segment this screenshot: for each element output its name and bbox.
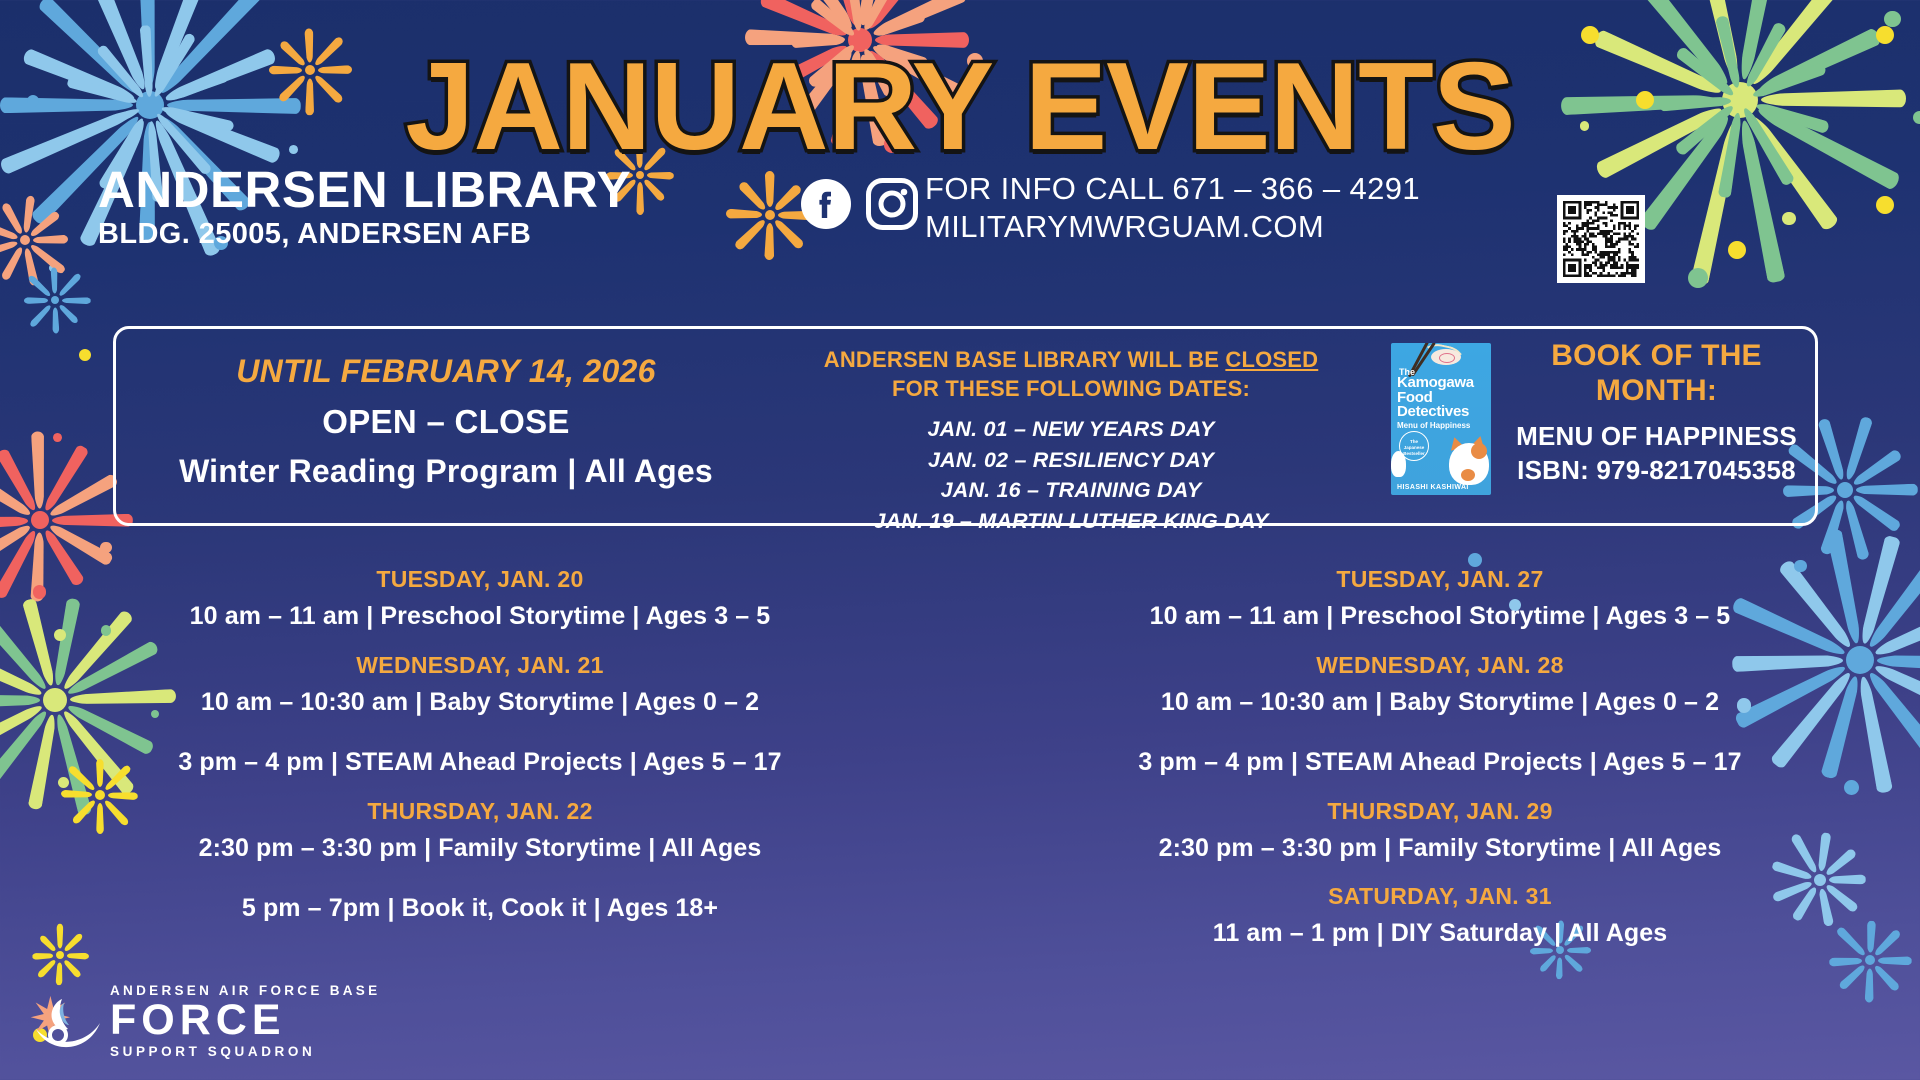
fss-logo: ANDERSEN AIR FORCE BASE FORCE SUPPORT SQ… [28,984,380,1058]
closure-dates-list: JAN. 01 – NEW YEARS DAY JAN. 02 – RESILI… [766,414,1376,536]
event-line: 3 pm – 4 pm | STEAM Ahead Projects | Age… [960,745,1920,781]
website-line: MILITARYMWRGUAM.COM [925,208,1420,246]
event-group: THURSDAY, JAN. 222:30 pm – 3:30 pm | Fam… [0,798,960,927]
winter-reading-program: Winter Reading Program | All Ages [136,453,756,490]
events-column-right: TUESDAY, JAN. 2710 am – 11 am | Preschoo… [960,566,1920,969]
event-group: THURSDAY, JAN. 292:30 pm – 3:30 pm | Fam… [960,798,1920,867]
book-of-the-month-block: The Kamogawa Food Detectives Menu of Hap… [1391,339,1806,495]
event-day-heading: THURSDAY, JAN. 29 [960,798,1920,825]
event-group: WEDNESDAY, JAN. 2810 am – 10:30 am | Bab… [960,652,1920,781]
fss-line2: FORCE [110,999,380,1043]
book-cover-author: HISASHI KASHIWAI [1397,484,1469,491]
event-day-heading: SATURDAY, JAN. 31 [960,883,1920,910]
closures-heading-closed: CLOSED [1225,347,1318,372]
firework-dot [79,349,91,361]
event-line: 10 am – 10:30 am | Baby Storytime | Ages… [960,685,1920,721]
closures-heading-prefix: ANDERSEN BASE LIBRARY WILL BE [824,347,1226,372]
header: JANUARY EVENTS ANDERSEN LIBRARY BLDG. 25… [0,0,1920,320]
info-panel: UNTIL FEBRUARY 14, 2026 OPEN – CLOSE Win… [113,326,1818,526]
fss-logo-text: ANDERSEN AIR FORCE BASE FORCE SUPPORT SQ… [110,984,380,1058]
library-address: BLDG. 25005, ANDERSEN AFB [98,218,531,251]
book-of-the-month-isbn: ISBN: 979-8217045358 [1507,455,1806,486]
event-line: 2:30 pm – 3:30 pm | Family Storytime | A… [0,831,960,867]
closures-heading-line2: FOR THESE FOLLOWING DATES: [892,376,1250,401]
book-cover-image: The Kamogawa Food Detectives Menu of Hap… [1391,343,1491,495]
event-line: 3 pm – 4 pm | STEAM Ahead Projects | Age… [0,745,960,781]
hours-until: UNTIL FEBRUARY 14, 2026 [136,353,756,390]
event-day-heading: TUESDAY, JAN. 20 [0,566,960,593]
firework-dot [1468,553,1482,567]
hours-block: UNTIL FEBRUARY 14, 2026 OPEN – CLOSE Win… [136,353,756,490]
event-line: 10 am – 10:30 am | Baby Storytime | Ages… [0,685,960,721]
library-name: ANDERSEN LIBRARY [98,160,631,219]
events-column-left: TUESDAY, JAN. 2010 am – 11 am | Preschoo… [0,566,960,969]
closures-block: ANDERSEN BASE LIBRARY WILL BE CLOSED FOR… [766,345,1376,536]
facebook-icon[interactable] [800,178,852,235]
social-links [800,178,918,235]
event-group: WEDNESDAY, JAN. 2110 am – 10:30 am | Bab… [0,652,960,781]
events-section: TUESDAY, JAN. 2010 am – 11 am | Preschoo… [0,566,1920,969]
closures-heading: ANDERSEN BASE LIBRARY WILL BE CLOSED FOR… [766,345,1376,403]
event-day-heading: TUESDAY, JAN. 27 [960,566,1920,593]
closure-date: JAN. 19 – MARTIN LUTHER KING DAY [766,506,1376,537]
event-group: TUESDAY, JAN. 2710 am – 11 am | Preschoo… [960,566,1920,635]
fss-star-swoosh-icon [28,985,106,1057]
event-line: 10 am – 11 am | Preschool Storytime | Ag… [0,599,960,635]
page-title: JANUARY EVENTS [0,36,1920,178]
book-cover-seal-text: The Japanese Bestseller [1400,439,1428,457]
event-group: SATURDAY, JAN. 3111 am – 1 pm | DIY Satu… [960,883,1920,952]
contact-info: FOR INFO CALL 671 – 366 – 4291 MILITARYM… [925,170,1420,246]
closure-date: JAN. 01 – NEW YEARS DAY [766,414,1376,445]
event-line: 2:30 pm – 3:30 pm | Family Storytime | A… [960,831,1920,867]
event-line: 5 pm – 7pm | Book it, Cook it | Ages 18+ [0,891,960,927]
event-day-heading: WEDNESDAY, JAN. 21 [0,652,960,679]
event-day-heading: THURSDAY, JAN. 22 [0,798,960,825]
fss-line3: SUPPORT SQUADRON [110,1045,380,1059]
qr-code[interactable] [1557,195,1645,283]
closure-date: JAN. 02 – RESILIENCY DAY [766,445,1376,476]
book-cover-line3: Detectives [1397,405,1474,420]
phone-line: FOR INFO CALL 671 – 366 – 4291 [925,170,1420,208]
event-group: TUESDAY, JAN. 2010 am – 11 am | Preschoo… [0,566,960,635]
event-line: 10 am – 11 am | Preschool Storytime | Ag… [960,599,1920,635]
instagram-icon[interactable] [866,178,918,235]
cat-illustration-icon [1445,435,1489,485]
book-of-the-month-title: MENU OF HAPPINESS [1507,421,1806,452]
book-cover-subtitle: Menu of Happiness [1397,421,1470,430]
event-day-heading: WEDNESDAY, JAN. 28 [960,652,1920,679]
closure-date: JAN. 16 – TRAINING DAY [766,475,1376,506]
hours-open-close: OPEN – CLOSE [136,403,756,441]
book-of-the-month-label: BOOK OF THE MONTH: [1507,339,1806,409]
event-line: 11 am – 1 pm | DIY Saturday | All Ages [960,916,1920,952]
